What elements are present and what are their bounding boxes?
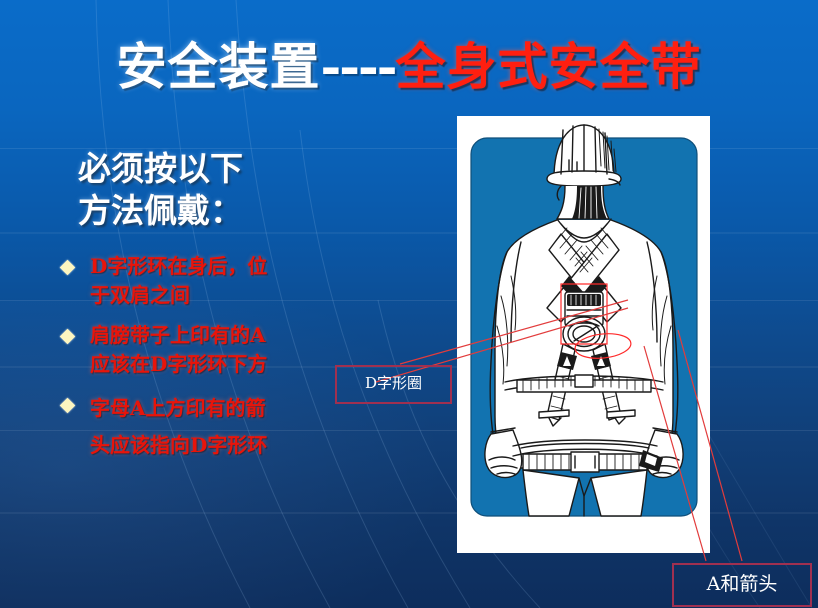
instruction-heading-line-2: 方法佩戴： — [78, 190, 408, 232]
callout-a-and-arrow[interactable]: A和箭头 — [672, 563, 812, 607]
title-part-1: 安全装置 — [116, 37, 320, 96]
callout-d-ring-label: D字形圈 — [365, 374, 422, 392]
list-item-line-2: 于双肩之间 — [90, 281, 386, 310]
title-dashes: ---- — [320, 37, 395, 96]
illustration-frame — [457, 116, 710, 553]
list-item-line-2: 头应该指向D字形环 — [90, 427, 386, 464]
instruction-bullet-list: D字形环在身后，位 于双肩之间 肩膀带子上印有的A 应该在D字形环下方 字母A上… — [56, 252, 386, 475]
page-title: 安全装置----全身式安全带 — [0, 38, 818, 96]
callout-d-ring[interactable]: D字形圈 — [335, 365, 452, 404]
diamond-bullet-icon — [60, 260, 76, 276]
harness-illustration — [457, 116, 710, 553]
list-item-line-1: D字形环在身后，位 — [90, 252, 386, 281]
diamond-bullet-icon — [60, 329, 76, 345]
instruction-heading-line-1: 必须按以下 — [78, 148, 408, 190]
slide: 安全装置----全身式安全带 必须按以下 方法佩戴： D字形环在身后，位 于双肩… — [0, 0, 818, 608]
list-item: D字形环在身后，位 于双肩之间 — [56, 252, 386, 310]
title-part-2: 全身式安全带 — [396, 37, 702, 96]
diamond-bullet-icon — [60, 398, 76, 414]
callout-a-and-arrow-label: A和箭头 — [707, 573, 778, 595]
list-item-line-1: 肩膀带子上印有的A — [90, 321, 386, 350]
instruction-heading: 必须按以下 方法佩戴： — [78, 148, 408, 232]
